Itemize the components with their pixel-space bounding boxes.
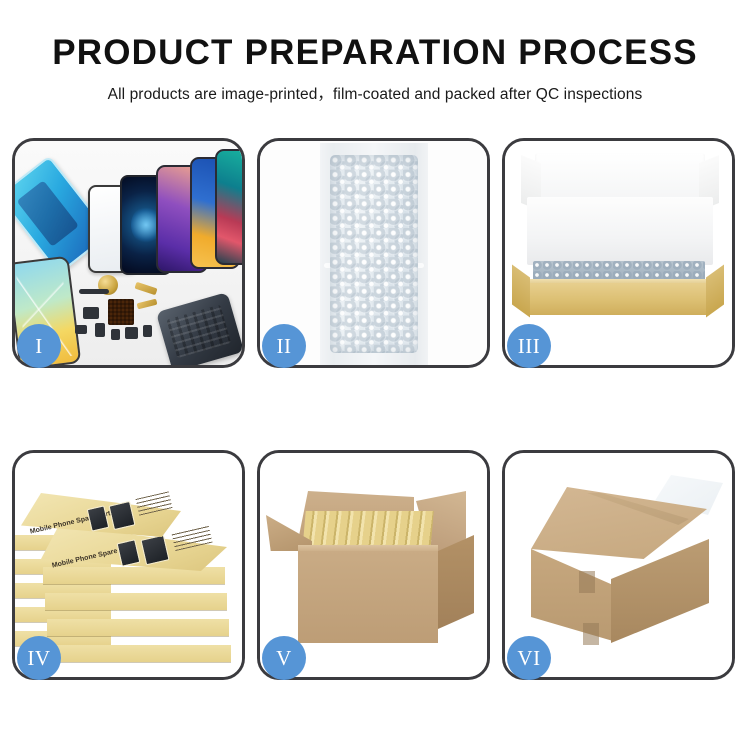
carton-side-panel-icon xyxy=(438,535,474,629)
step-panel-6: VI xyxy=(502,450,735,680)
connector-icon xyxy=(83,307,99,319)
step-badge-2: II xyxy=(262,324,306,368)
sim-tray-icon xyxy=(111,329,120,340)
vibration-motor-icon xyxy=(125,327,138,339)
step-badge-3: III xyxy=(507,324,551,368)
speaker-icon xyxy=(95,323,105,337)
page-title: PRODUCT PREPARATION PROCESS xyxy=(0,0,750,73)
step-badge-1: I xyxy=(17,324,61,368)
flex-cable-icon xyxy=(134,282,157,295)
kraft-box-front-icon xyxy=(525,283,711,315)
stacked-box-edge xyxy=(49,645,231,662)
bracket-icon xyxy=(75,325,87,334)
step-panel-2: II xyxy=(257,138,490,368)
step-panel-4: Mobile Phone Spare Parts Mobile Phone Sp… xyxy=(12,450,245,680)
step-panel-5: V xyxy=(257,450,490,680)
step-badge-5: V xyxy=(262,636,306,680)
step-badge-6: VI xyxy=(507,636,551,680)
bubble-wrap-bubbles-icon xyxy=(330,155,418,353)
phone-screen-teal-icon xyxy=(215,149,242,265)
carton-front-panel-icon xyxy=(298,551,438,643)
foam-insert-icon xyxy=(527,197,713,265)
small-ic-icon xyxy=(143,325,152,337)
sealed-carton-left-icon xyxy=(531,545,613,641)
product-preparation-infographic: PRODUCT PREPARATION PROCESS All products… xyxy=(0,0,750,750)
carton-seam-tab-icon xyxy=(579,571,595,593)
page-subtitle: All products are image-printed，film-coat… xyxy=(0,73,750,104)
step-badge-4: IV xyxy=(17,636,61,680)
stacked-box-edge xyxy=(47,619,229,636)
stacked-box-edge xyxy=(45,593,227,610)
volume-button-flex-icon xyxy=(137,299,158,310)
step-panel-3: III xyxy=(502,138,735,368)
earpiece-mesh-icon xyxy=(79,289,109,294)
screw-tray-icon xyxy=(108,299,134,325)
header: PRODUCT PREPARATION PROCESS All products… xyxy=(0,0,750,104)
phone-motherboard-icon xyxy=(156,292,242,365)
carton-seam-tab-icon xyxy=(583,623,599,645)
steps-grid: I II III xyxy=(12,138,738,680)
step-panel-1: I xyxy=(12,138,245,368)
